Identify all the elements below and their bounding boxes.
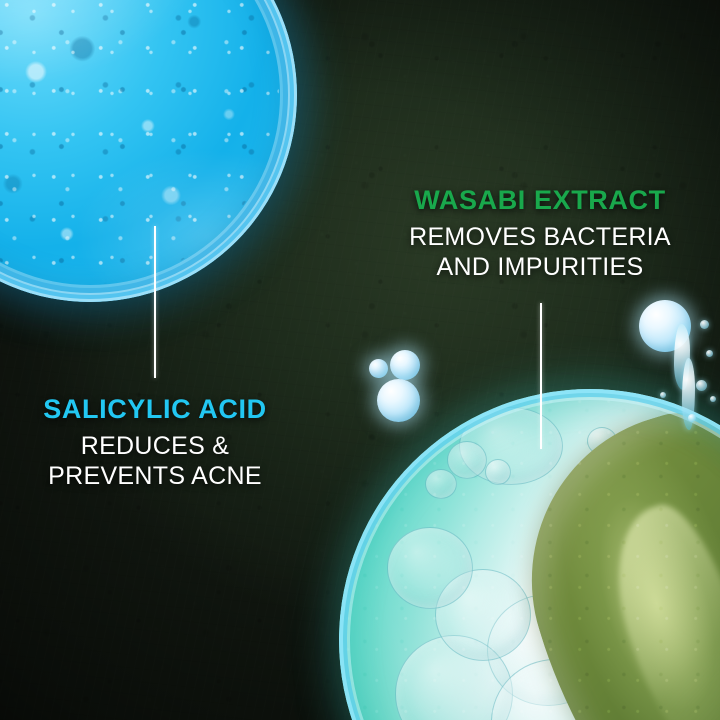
splash-droplet [700,320,709,329]
splash-droplet [696,380,707,391]
splash-droplet [706,350,713,357]
callout-body-line: PREVENTS ACNE [5,461,305,491]
callout-body-salicylic: REDUCES & PREVENTS ACNE [5,431,305,491]
callout-wasabi-extract: WASABI EXTRACT REMOVES BACTERIA AND IMPU… [390,186,690,282]
callout-body-wasabi: REMOVES BACTERIA AND IMPURITIES [390,222,690,282]
water-splash [630,296,720,446]
infographic-canvas: SALICYLIC ACID REDUCES & PREVENTS ACNE W… [0,0,720,720]
callout-salicylic-acid: SALICYLIC ACID REDUCES & PREVENTS ACNE [5,395,305,491]
callout-body-line: REMOVES BACTERIA [390,222,690,252]
floating-bubble-large [377,379,420,422]
splash-droplet [660,392,666,398]
callout-heading-wasabi: WASABI EXTRACT [390,186,690,216]
leader-line-salicylic [154,226,156,378]
floating-bubble-medium [390,350,420,380]
callout-body-line: REDUCES & [5,431,305,461]
callout-body-line: AND IMPURITIES [390,252,690,282]
leader-line-wasabi [540,303,542,449]
splash-droplet [688,414,696,422]
callout-heading-salicylic: SALICYLIC ACID [5,395,305,425]
splash-droplet [710,396,716,402]
floating-bubble-small [369,359,388,378]
